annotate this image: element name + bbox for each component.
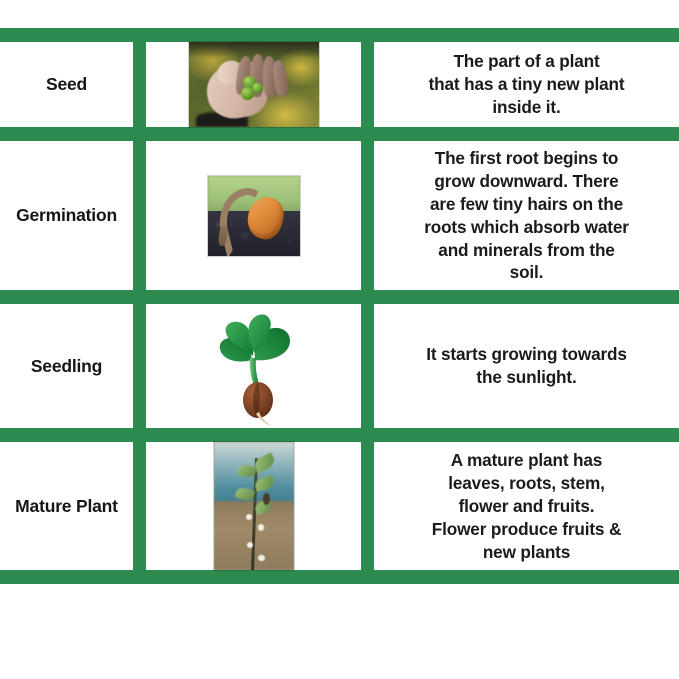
description-line: flower and fruits. xyxy=(388,495,665,518)
green-seed-shape xyxy=(252,83,262,93)
description-line: soil. xyxy=(388,261,665,284)
description-line: leaves, roots, stem, xyxy=(388,472,665,495)
image-cell-germination xyxy=(146,127,374,290)
germinating-seed-photo xyxy=(208,176,300,256)
table-row: Seedling xyxy=(0,290,679,428)
description-line: that has a tiny new plant xyxy=(388,73,665,96)
description-text: A mature plant has leaves, roots, stem, … xyxy=(374,443,679,569)
description-line: roots which absorb water xyxy=(388,216,665,239)
description-cell-mature-plant: A mature plant has leaves, roots, stem, … xyxy=(374,428,679,584)
seedling-illustration xyxy=(202,304,306,428)
description-text: It starts growing towards the sunlight. xyxy=(374,337,679,395)
photo-shadow xyxy=(189,42,319,57)
description-line: new plants xyxy=(388,541,665,564)
image-cell-seedling xyxy=(146,290,374,428)
stage-cell-seed: Seed xyxy=(0,28,146,127)
table-row: Mature Plant xyxy=(0,428,679,584)
image-wrapper xyxy=(146,42,361,127)
flower-shape xyxy=(258,555,264,561)
plant-life-cycle-sheet: Seed xyxy=(0,0,679,679)
description-line: The part of a plant xyxy=(388,50,665,73)
image-wrapper xyxy=(146,442,361,570)
description-line: A mature plant has xyxy=(388,449,665,472)
description-line: and minerals from the xyxy=(388,239,665,262)
stage-label: Seedling xyxy=(0,351,133,382)
description-line: grow downward. There xyxy=(388,170,665,193)
description-line: The first root begins to xyxy=(388,147,665,170)
image-cell-mature-plant xyxy=(146,428,374,584)
description-cell-germination: The first root begins to grow downward. … xyxy=(374,127,679,290)
stage-cell-seedling: Seedling xyxy=(0,290,146,428)
description-cell-seedling: It starts growing towards the sunlight. xyxy=(374,290,679,428)
stage-label: Mature Plant xyxy=(0,491,133,522)
stage-cell-mature-plant: Mature Plant xyxy=(0,428,146,584)
description-line: Flower produce fruits & xyxy=(388,518,665,541)
stage-label: Seed xyxy=(0,69,133,100)
table-row: Germination The fi xyxy=(0,127,679,290)
description-text: The part of a plant that has a tiny new … xyxy=(374,44,679,125)
seed-in-hand-photo xyxy=(189,42,319,127)
image-cell-seed xyxy=(146,28,374,127)
description-line: are few tiny hairs on the xyxy=(388,193,665,216)
table-row: Seed xyxy=(0,28,679,127)
flower-shape xyxy=(258,524,264,530)
description-line: It starts growing towards xyxy=(388,343,665,366)
stage-label-line: Mature xyxy=(15,496,71,516)
image-wrapper xyxy=(146,176,361,256)
description-line: the sunlight. xyxy=(388,366,665,389)
description-text: The first root begins to grow downward. … xyxy=(374,141,679,290)
description-cell-seed: The part of a plant that has a tiny new … xyxy=(374,28,679,127)
plant-life-cycle-table: Seed xyxy=(0,28,679,584)
stage-label-line: Plant xyxy=(76,496,118,516)
stage-label: Germination xyxy=(0,200,133,231)
image-wrapper xyxy=(146,304,361,428)
stage-cell-germination: Germination xyxy=(0,127,146,290)
mature-plant-photo xyxy=(214,442,294,570)
description-line: inside it. xyxy=(388,96,665,119)
